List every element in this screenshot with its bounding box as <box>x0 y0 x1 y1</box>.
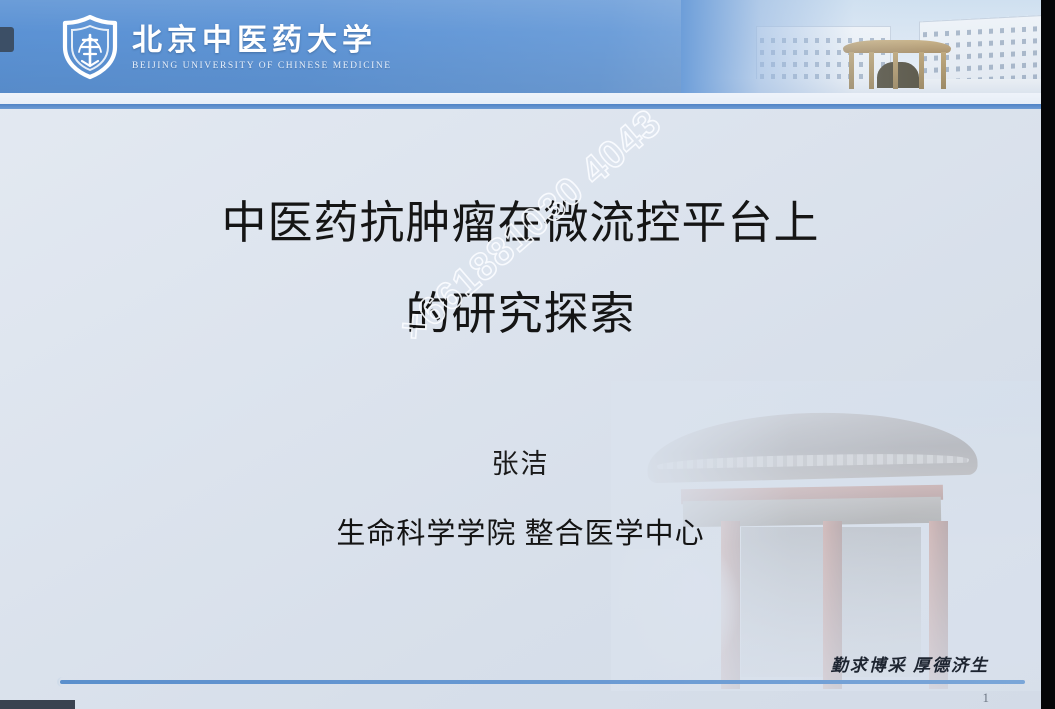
window-row <box>923 26 1041 37</box>
university-name-block: 北京中医药大学 BEIJING UNIVERSITY OF CHINESE ME… <box>132 23 392 72</box>
gate-column <box>869 52 874 89</box>
gate-column <box>941 52 946 89</box>
slide-author-block: 张洁 生命科学学院 整合医学中心 <box>0 442 1041 552</box>
gate-column <box>919 52 924 89</box>
gate-column <box>893 52 898 89</box>
author-affiliation: 生命科学学院 整合医学中心 <box>0 510 1041 552</box>
gate-opening <box>877 62 919 88</box>
footer-rule-cap <box>57 677 68 687</box>
campus-photo <box>681 0 1041 93</box>
page-number: 1 <box>983 690 990 706</box>
gate-column <box>849 52 854 89</box>
slide-canvas: 北京中医药大学 BEIJING UNIVERSITY OF CHINESE ME… <box>0 0 1041 709</box>
title-line-1: 中医药抗肿瘤在微流控平台上 <box>0 201 1041 246</box>
presentation-slide: 北京中医药大学 BEIJING UNIVERSITY OF CHINESE ME… <box>0 0 1055 709</box>
campus-gate <box>843 40 951 88</box>
university-logo: 北京中医药大学 BEIJING UNIVERSITY OF CHINESE ME… <box>60 11 392 83</box>
footer-motto: 勤求博采 厚德济生 <box>831 651 989 676</box>
slide-header-band: 北京中医药大学 BEIJING UNIVERSITY OF CHINESE ME… <box>0 0 1041 93</box>
right-black-bezel <box>1041 0 1055 709</box>
slide-title: 中医药抗肿瘤在微流控平台上 的研究探索 <box>0 201 1041 337</box>
slide-content: 中医药抗肿瘤在微流控平台上 的研究探索 张洁 生命科学学院 整合医学中心 <box>0 109 1041 709</box>
bottom-left-taskbar-edge <box>0 700 75 709</box>
footer-rule <box>60 680 1025 684</box>
university-shield-icon <box>60 14 120 80</box>
title-line-2: 的研究探索 <box>0 292 1041 337</box>
author-name: 张洁 <box>0 442 1041 481</box>
left-edge-tab <box>0 27 14 52</box>
header-divider-light <box>0 93 1041 104</box>
university-name-cn: 北京中医药大学 <box>132 25 392 57</box>
university-name-en: BEIJING UNIVERSITY OF CHINESE MEDICINE <box>132 61 392 71</box>
